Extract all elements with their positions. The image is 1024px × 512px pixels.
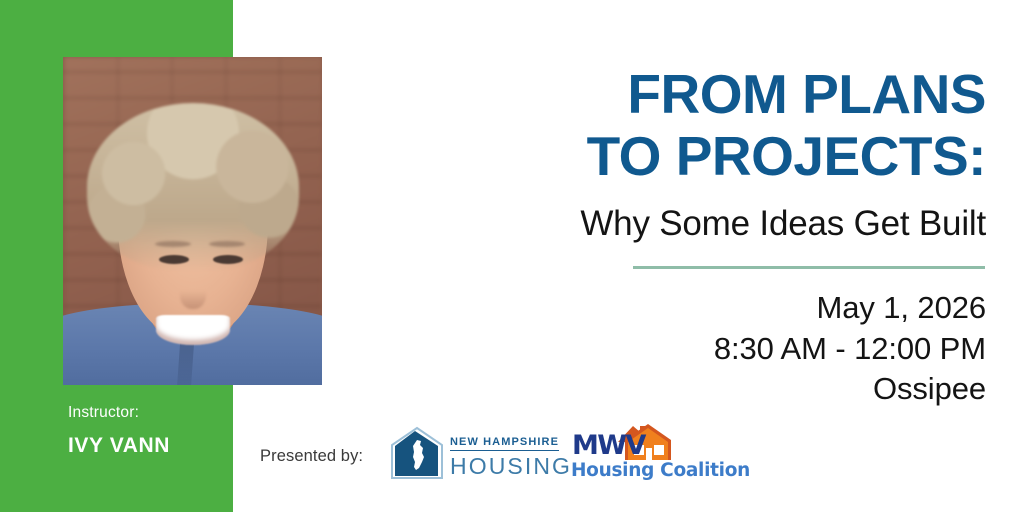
title-line-2: TO PROJECTS: xyxy=(430,126,986,188)
event-details-block: May 1, 2026 8:30 AM - 12:00 PM Ossipee xyxy=(560,288,986,410)
portrait-nose xyxy=(180,279,206,309)
house-with-nh-state-outline-icon xyxy=(390,426,444,480)
mwv-lettermark: MWV xyxy=(572,430,645,461)
nhh-wordmark: NEW HAMPSHIRE HOUSING xyxy=(450,432,572,478)
divider-rule xyxy=(633,266,985,269)
nhh-wordmark-bottom: HOUSING xyxy=(450,454,572,478)
title-line-1: FROM PLANS xyxy=(430,64,986,126)
instructor-name: IVY VANN xyxy=(68,433,233,458)
portrait-eyebrow-left xyxy=(155,241,191,247)
portrait-eyebrow-right xyxy=(209,241,245,247)
portrait-eye-left xyxy=(159,255,189,264)
mwv-wordmark: Housing Coalition xyxy=(571,460,750,481)
portrait-smile xyxy=(156,315,230,345)
logo-mwv-housing-coalition: MWV Housing Coalition xyxy=(570,420,702,482)
event-location: Ossipee xyxy=(560,369,986,410)
subtitle: Why Some Ideas Get Built xyxy=(430,203,986,245)
instructor-label: Instructor: xyxy=(68,404,233,423)
event-date: May 1, 2026 xyxy=(560,288,986,329)
event-promo-graphic: Instructor: IVY VANN FROM PLANS TO PROJE… xyxy=(0,0,1024,512)
presented-by-label: Presented by: xyxy=(260,447,363,466)
mwv-top-row: MWV xyxy=(570,420,702,462)
portrait-hair xyxy=(87,103,299,271)
title-block: FROM PLANS TO PROJECTS: Why Some Ideas G… xyxy=(430,64,986,245)
event-time: 8:30 AM - 12:00 PM xyxy=(560,329,986,370)
portrait-eye-right xyxy=(213,255,243,264)
nhh-wordmark-top: NEW HAMPSHIRE xyxy=(450,436,559,451)
logo-new-hampshire-housing: NEW HAMPSHIRE HOUSING xyxy=(390,424,548,482)
instructor-block: Instructor: IVY VANN xyxy=(68,404,233,458)
instructor-portrait-photo xyxy=(63,57,322,385)
